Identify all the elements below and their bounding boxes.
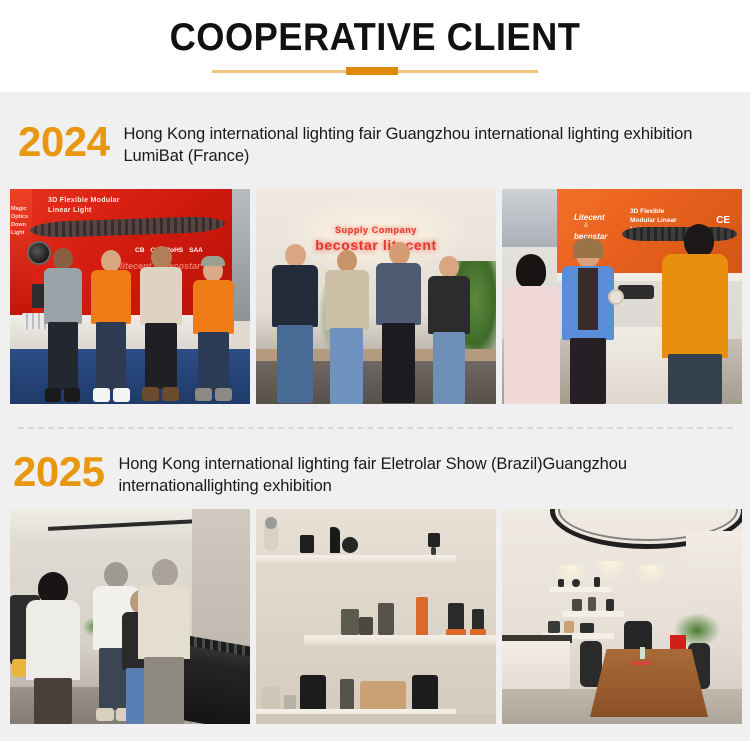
photo-showroom-customers-counter[interactable] [10, 509, 250, 724]
photo-showroom-shelves-lamps[interactable] [256, 509, 496, 724]
content-panel: 2024 Hong Kong international lighting fa… [0, 92, 750, 741]
booth-signage-line1: 3D Flexible Modular [48, 197, 120, 204]
cooperative-client-page: COOPERATIVE CLIENT 2024 Hong Kong intern… [0, 0, 750, 741]
photo-gallery-2024: Magic Optics Down Light 3D Flexible Modu… [10, 189, 742, 404]
page-title: COOPERATIVE CLIENT [26, 16, 724, 60]
photo-showroom-meeting-room[interactable] [502, 509, 742, 724]
year-description-2025: Hong Kong international lighting fair El… [118, 447, 698, 497]
demo-signage-amp: & [584, 223, 588, 229]
photo-trade-show-booth-group[interactable]: Magic Optics Down Light 3D Flexible Modu… [10, 189, 250, 404]
year-label-2025: 2025 [13, 447, 104, 495]
office-sign-line1: Supply Company [256, 225, 496, 235]
year-label-2024: 2024 [18, 117, 109, 165]
title-underline-accent [346, 67, 398, 75]
year-heading-row-2024: 2024 Hong Kong international lighting fa… [18, 117, 738, 167]
booth-signage-line2: Linear Light [48, 207, 92, 214]
photo-booth-product-demo[interactable]: Litecent & becostar 3D Flexible Modular … [502, 189, 742, 404]
page-header: COOPERATIVE CLIENT [0, 0, 750, 92]
year-description-2024: Hong Kong international lighting fair Gu… [123, 117, 723, 167]
section-divider [18, 427, 733, 429]
photo-office-neon-sign-group[interactable]: Supply Company becostar litecent [256, 189, 496, 404]
photo-gallery-2025 [10, 509, 742, 724]
year-heading-row-2025: 2025 Hong Kong international lighting fa… [13, 447, 743, 497]
booth-side-text: Magic Optics Down Light [11, 205, 31, 237]
demo-signage-brand1: Litecent [574, 213, 605, 222]
